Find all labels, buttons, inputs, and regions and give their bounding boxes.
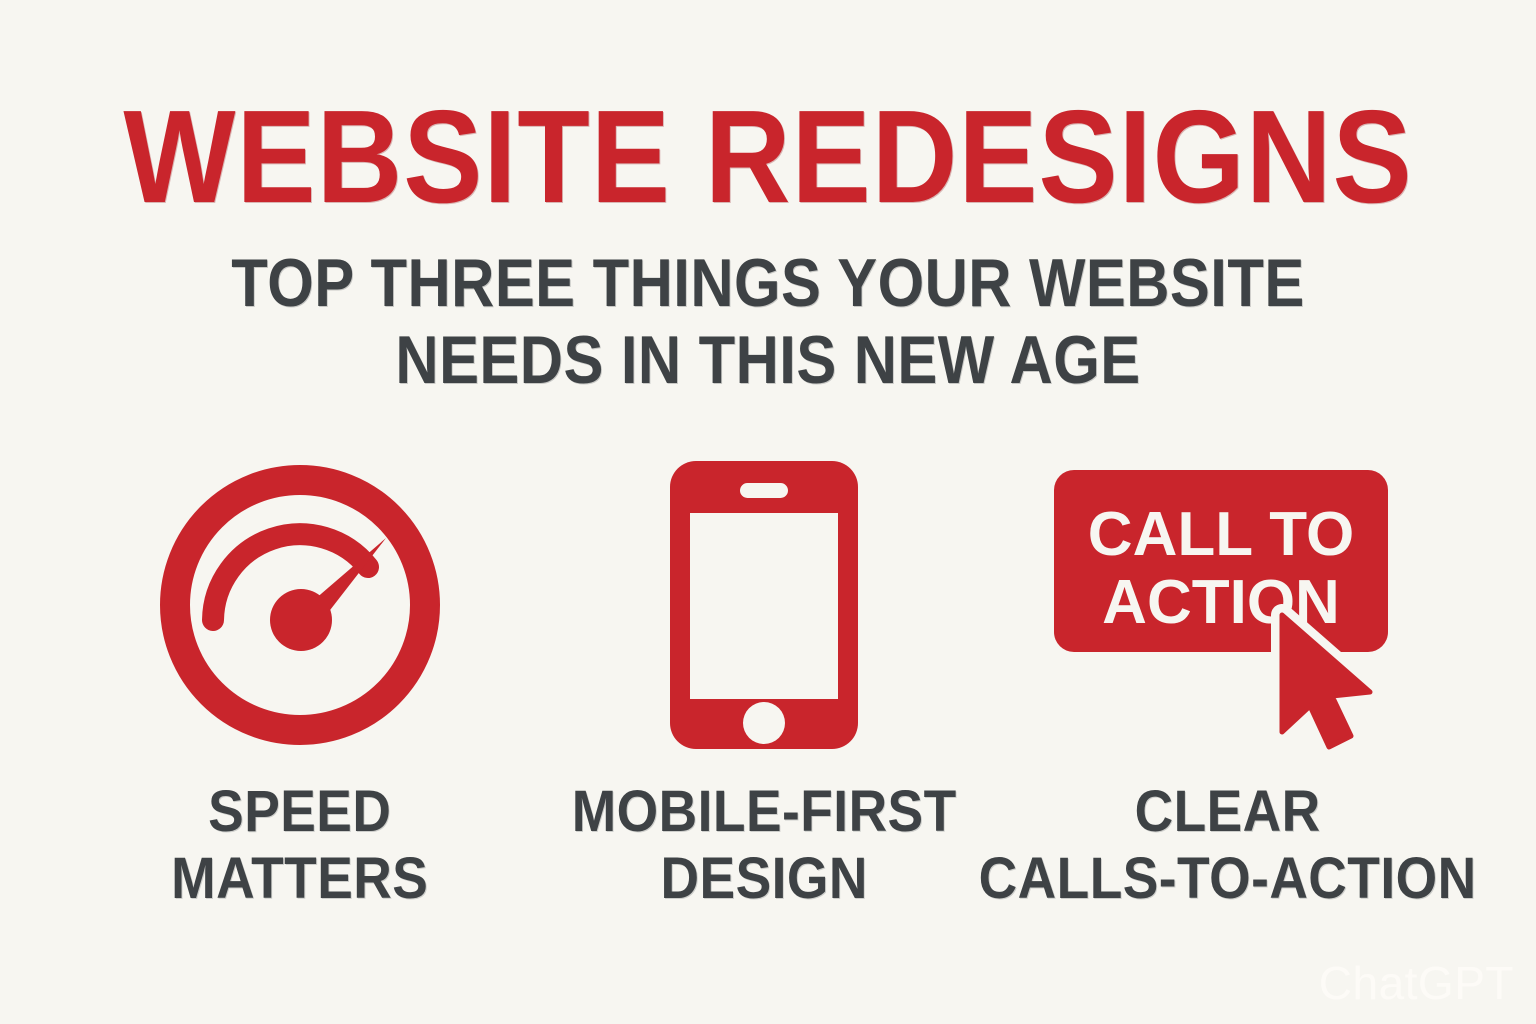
speedometer-icon [155, 460, 445, 750]
page-title: WEBSITE REDESIGNS [77, 92, 1459, 221]
feature-speed-matters: SPEED MATTERS [90, 440, 510, 913]
caption-mobile-line-1: MOBILE-FIRST [572, 778, 957, 845]
caption-speed: SPEED MATTERS [171, 778, 428, 913]
cta-button-line-1: CALL TO [1088, 500, 1354, 569]
feature-clear-calls-to-action: CALL TO ACTION CLEAR CALLS-TO-ACTION [1018, 440, 1438, 913]
feature-row: SPEED MATTERS MOBILE-FIRST [0, 440, 1536, 913]
caption-mobile-line-2: DESIGN [572, 845, 957, 912]
caption-speed-line-1: SPEED [171, 778, 428, 845]
headline-block: WEBSITE REDESIGNS TOP THREE THINGS YOUR … [0, 92, 1536, 398]
caption-cta-line-2: CALLS-TO-ACTION [979, 845, 1477, 912]
infographic-poster: WEBSITE REDESIGNS TOP THREE THINGS YOUR … [0, 0, 1536, 1024]
mobile-icon-slot [664, 440, 864, 770]
watermark-label: ChatGPT [1319, 956, 1514, 1010]
speed-icon-slot [155, 440, 445, 770]
caption-cta: CLEAR CALLS-TO-ACTION [979, 778, 1477, 913]
page-subtitle: TOP THREE THINGS YOUR WEBSITE NEEDS IN T… [92, 245, 1444, 397]
subtitle-line-2: NEEDS IN THIS NEW AGE [92, 322, 1444, 398]
cta-icon-slot: CALL TO ACTION [1048, 440, 1408, 770]
caption-cta-line-1: CLEAR [979, 778, 1477, 845]
caption-speed-line-2: MATTERS [171, 845, 428, 912]
smartphone-icon [664, 455, 864, 755]
feature-mobile-first-design: MOBILE-FIRST DESIGN [554, 440, 974, 913]
call-to-action-button-icon[interactable]: CALL TO ACTION [1048, 460, 1408, 750]
subtitle-line-1: TOP THREE THINGS YOUR WEBSITE [92, 245, 1444, 321]
caption-mobile: MOBILE-FIRST DESIGN [572, 778, 957, 913]
